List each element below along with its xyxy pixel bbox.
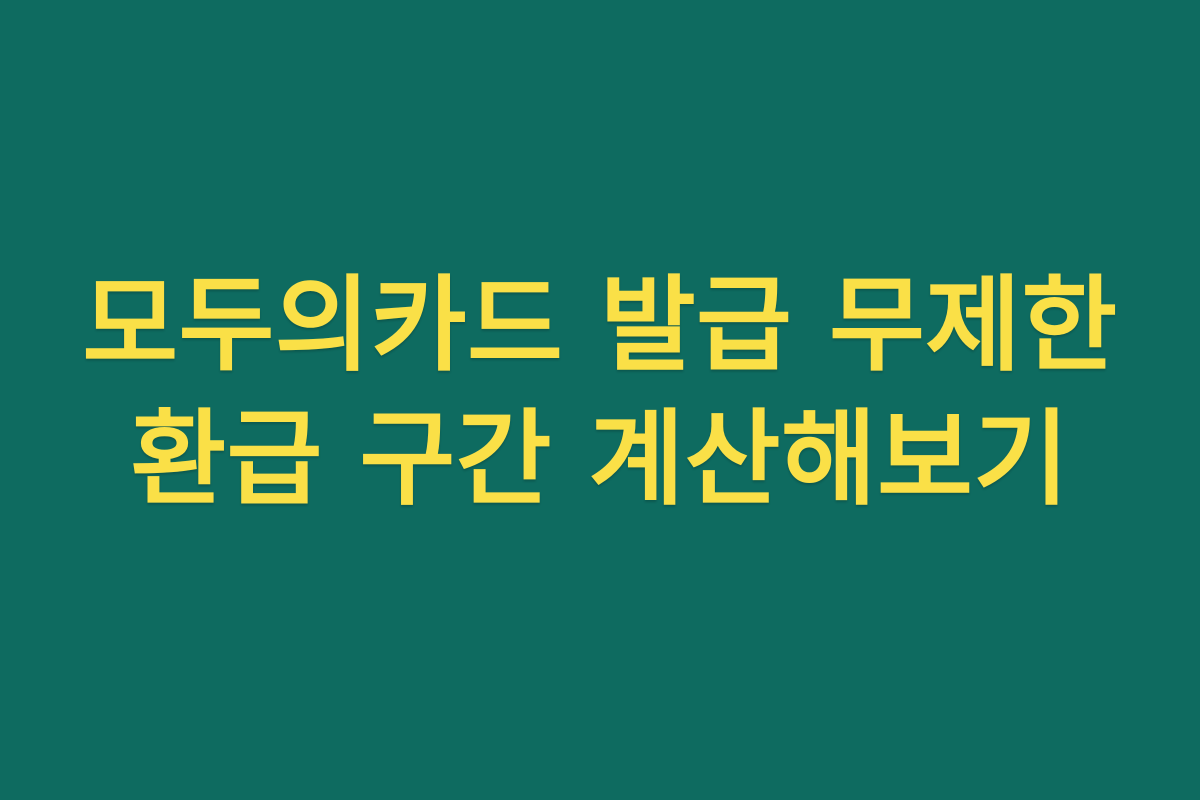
headline-line-2: 환급 구간 계산해보기 bbox=[0, 403, 1200, 515]
headline-line-1: 모두의카드 발급 무제한 bbox=[0, 269, 1200, 381]
promo-banner: 모두의카드 발급 무제한 환급 구간 계산해보기 bbox=[0, 0, 1200, 800]
headline-block: 모두의카드 발급 무제한 환급 구간 계산해보기 bbox=[0, 269, 1200, 516]
